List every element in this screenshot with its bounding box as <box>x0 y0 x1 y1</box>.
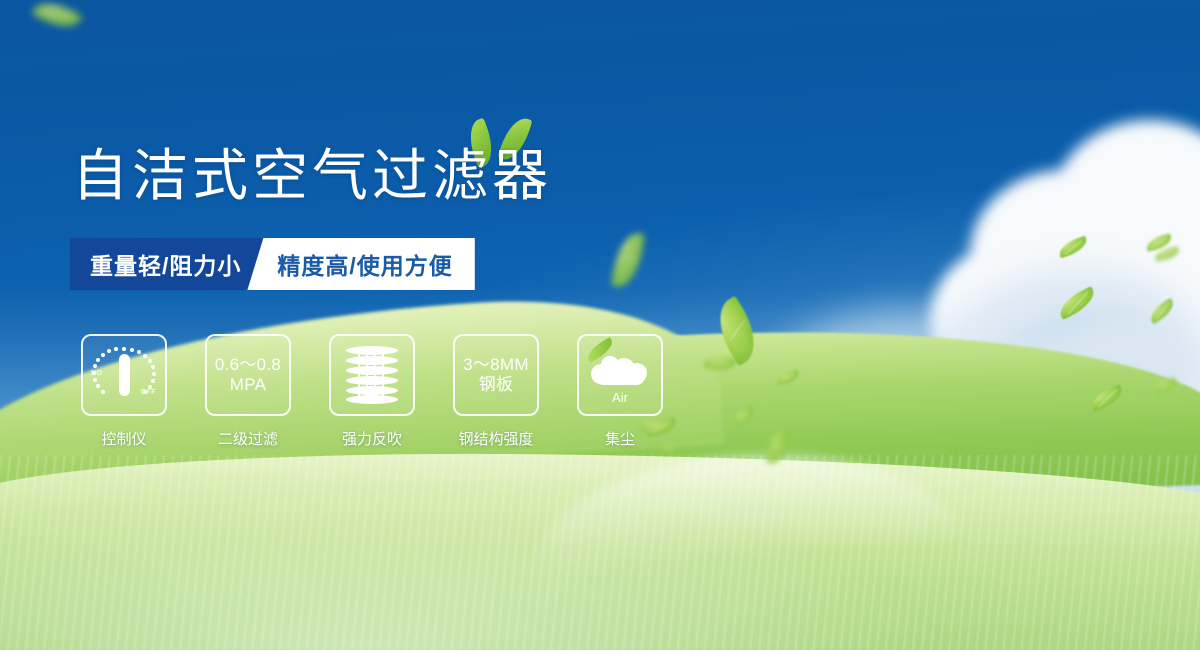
product-banner: 自洁式空气过滤器 重量轻/阻力小 精度高/使用方便 <box>0 0 1200 650</box>
steel-value-line2: 钢板 <box>463 375 529 395</box>
feature-label: 强力反吹 <box>342 428 402 449</box>
filter-stack-icon <box>329 334 415 416</box>
feature-item-controller[interactable]: NO OFF 控制仪 <box>74 334 174 449</box>
dial-off-label: OFF <box>141 389 157 396</box>
filter-stack-graphic <box>346 346 398 404</box>
page-title: 自洁式空气过滤器 <box>72 148 552 204</box>
pressure-value-line2: MPA <box>215 375 281 395</box>
pressure-text-icon: 0.6～0.8 MPA <box>205 334 291 416</box>
feature-label: 集尘 <box>605 428 635 449</box>
feature-label: 二级过滤 <box>218 428 278 449</box>
feature-label: 钢结构强度 <box>458 428 533 449</box>
banner-content: 自洁式空气过滤器 重量轻/阻力小 精度高/使用方便 <box>0 0 760 650</box>
control-dial-icon: NO OFF <box>81 334 167 416</box>
steel-value-line1: 3～8MM <box>463 355 529 375</box>
air-cloud-graphic: Air <box>589 346 651 404</box>
dial-on-label: NO <box>91 370 103 377</box>
steel-plate-text-icon: 3～8MM 钢板 <box>453 334 539 416</box>
air-label: Air <box>589 390 651 405</box>
dial-needle <box>119 354 130 396</box>
air-cloud-icon: Air <box>577 334 663 416</box>
subtitle-left-badge: 重量轻/阻力小 <box>70 238 263 290</box>
pressure-value-line1: 0.6～0.8 <box>215 355 281 375</box>
subtitle-bar: 重量轻/阻力小 精度高/使用方便 <box>70 238 475 290</box>
subtitle-right-badge: 精度高/使用方便 <box>247 238 474 290</box>
feature-item-back-blow[interactable]: 强力反吹 <box>322 334 422 449</box>
dial-graphic: NO OFF <box>92 345 156 405</box>
feature-list: NO OFF 控制仪 0.6～0.8 MPA 二级过滤 <box>74 334 670 449</box>
feature-item-two-stage-filter[interactable]: 0.6～0.8 MPA 二级过滤 <box>198 334 298 449</box>
feature-item-steel-strength[interactable]: 3～8MM 钢板 钢结构强度 <box>446 334 546 449</box>
feature-label: 控制仪 <box>101 428 146 449</box>
